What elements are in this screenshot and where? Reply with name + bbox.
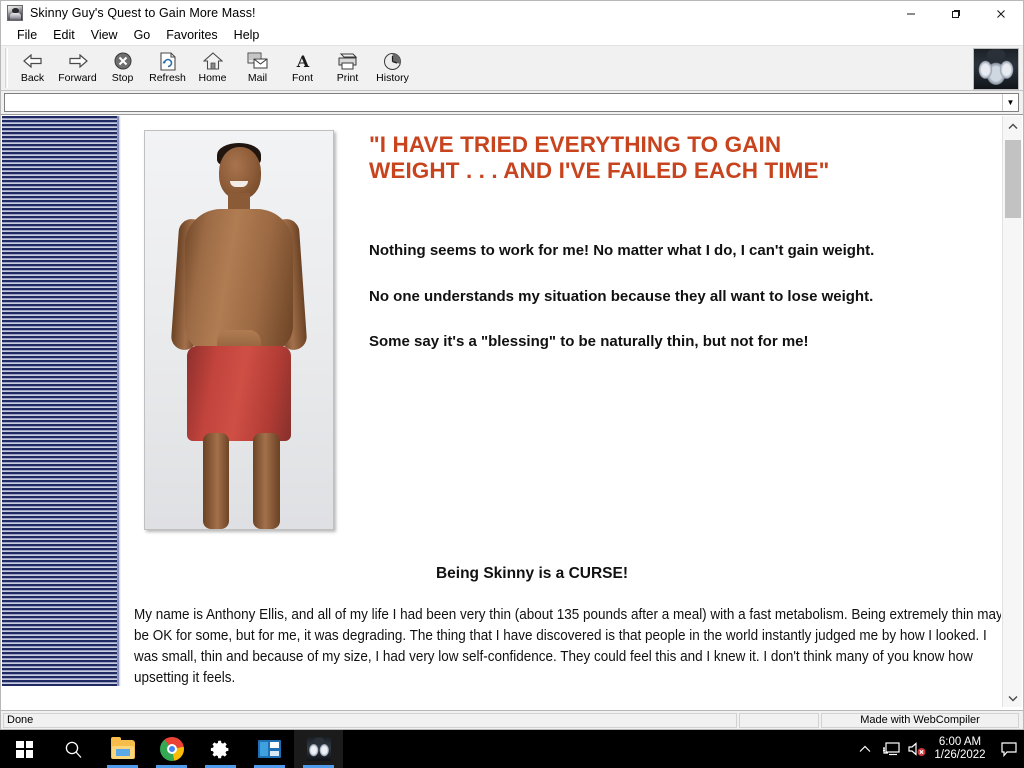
maximize-button[interactable] (933, 1, 978, 26)
app-photo-icon (307, 737, 331, 761)
close-button[interactable] (978, 1, 1023, 26)
toolbar-forward-button[interactable]: Forward (55, 48, 100, 90)
page-sidebar-stripes (2, 116, 118, 686)
toolbar-font-label: Font (292, 73, 313, 84)
clock[interactable]: 6:00 AM 1/26/2022 (930, 736, 994, 762)
network-monitor-icon[interactable] (878, 730, 904, 768)
toolbar-stop-label: Stop (112, 73, 134, 84)
window-controls (888, 1, 1023, 26)
office-icon (258, 740, 281, 758)
sidebar-edge (118, 116, 121, 686)
toolbar-print-button[interactable]: Print (325, 48, 370, 90)
toolbar-refresh-button[interactable]: Refresh (145, 48, 190, 90)
scrollbar-thumb[interactable] (1005, 140, 1021, 218)
svg-text:A: A (295, 52, 309, 70)
speaker-muted-icon[interactable] (904, 730, 930, 768)
arrow-right-icon (67, 50, 89, 72)
page-paragraph-1: Nothing seems to work for me! No matter … (369, 241, 874, 262)
toolbar-history-button[interactable]: History (370, 48, 415, 90)
home-icon (202, 50, 224, 72)
chrome-button[interactable] (147, 730, 196, 768)
chrome-icon (160, 737, 184, 761)
status-bar: Done Made with WebCompiler (1, 710, 1023, 729)
toolbar-print-label: Print (337, 73, 359, 84)
refresh-page-icon (157, 50, 179, 72)
clock-date: 1/26/2022 (932, 749, 988, 762)
toolbar-mail-button[interactable]: Mail (235, 48, 280, 90)
toolbar-stop-button[interactable]: Stop (100, 48, 145, 90)
menu-item-go[interactable]: Go (126, 26, 159, 45)
taskbar: 6:00 AM 1/26/2022 (0, 730, 1024, 768)
toolbar-font-button[interactable]: A Font (280, 48, 325, 90)
status-credit: Made with WebCompiler (821, 713, 1019, 728)
search-button[interactable] (49, 730, 98, 768)
arrow-left-icon (22, 50, 44, 72)
toolbar-history-label: History (376, 73, 409, 84)
chevron-down-icon[interactable]: ▼ (1002, 94, 1018, 111)
toolbar-forward-label: Forward (58, 73, 97, 84)
minimize-button[interactable] (888, 1, 933, 26)
start-button[interactable] (0, 730, 49, 768)
font-a-icon: A (292, 50, 314, 72)
menu-item-edit[interactable]: Edit (45, 26, 83, 45)
address-input[interactable] (5, 94, 1002, 111)
chevron-up-icon[interactable] (852, 730, 878, 768)
toolbar-refresh-label: Refresh (149, 73, 186, 84)
menu-bar: File Edit View Go Favorites Help (1, 26, 1023, 45)
address-combo[interactable]: ▼ (4, 93, 1019, 112)
muscular-torso-logo-icon (974, 49, 1018, 89)
menu-item-view[interactable]: View (83, 26, 126, 45)
thin-man-photo (144, 130, 334, 530)
menu-item-help[interactable]: Help (226, 26, 268, 45)
office-app-button[interactable] (245, 730, 294, 768)
hero-text: "I HAVE TRIED EVERYTHING TO GAIN WEIGHT … (369, 130, 886, 353)
scroll-down-icon[interactable] (1003, 688, 1023, 707)
toolbar-grip[interactable] (5, 48, 8, 88)
page-content: "I HAVE TRIED EVERYTHING TO GAIN WEIGHT … (123, 116, 1001, 707)
browser-window: Skinny Guy's Quest to Gain More Mass! (0, 0, 1024, 730)
toolbar-back-label: Back (21, 73, 44, 84)
notification-icon[interactable] (994, 730, 1024, 768)
page-subheading: Being Skinny is a CURSE! (123, 565, 1001, 583)
hero-section: "I HAVE TRIED EVERYTHING TO GAIN WEIGHT … (123, 116, 1001, 530)
toolbar-home-label: Home (198, 73, 226, 84)
page-headline: "I HAVE TRIED EVERYTHING TO GAIN WEIGHT … (369, 132, 869, 184)
toolbar-logo (973, 48, 1019, 90)
page-paragraph-3: Some say it's a "blessing" to be natural… (369, 332, 874, 353)
screen: Skinny Guy's Quest to Gain More Mass! (0, 0, 1024, 768)
status-middle (739, 713, 819, 728)
history-clock-icon (382, 50, 404, 72)
app-photo-icon (7, 5, 23, 21)
folder-icon (111, 740, 135, 759)
page-paragraph-2: No one understands my situation because … (369, 287, 874, 308)
toolbar-back-button[interactable]: Back (10, 48, 55, 90)
windows-logo-icon (16, 741, 33, 758)
menu-item-favorites[interactable]: Favorites (158, 26, 225, 45)
toolbar-mail-label: Mail (248, 73, 267, 84)
status-message: Done (3, 713, 737, 728)
window-title: Skinny Guy's Quest to Gain More Mass! (30, 6, 256, 20)
page-story-text: My name is Anthony Ellis, and all of my … (134, 605, 1001, 689)
gear-icon (210, 739, 231, 760)
printer-icon (337, 50, 359, 72)
stop-x-icon (112, 50, 134, 72)
skinny-guy-app-button[interactable] (294, 730, 343, 768)
menu-item-file[interactable]: File (9, 26, 45, 45)
page-scrollbar[interactable] (1002, 116, 1022, 707)
toolbar: Back Forward Stop (1, 45, 1023, 91)
settings-button[interactable] (196, 730, 245, 768)
title-bar[interactable]: Skinny Guy's Quest to Gain More Mass! (1, 1, 1023, 26)
system-tray: 6:00 AM 1/26/2022 (852, 730, 1024, 768)
scroll-up-icon[interactable] (1003, 116, 1023, 136)
page-viewport: "I HAVE TRIED EVERYTHING TO GAIN WEIGHT … (1, 115, 1023, 707)
toolbar-home-button[interactable]: Home (190, 48, 235, 90)
file-explorer-button[interactable] (98, 730, 147, 768)
clock-time: 6:00 AM (932, 736, 988, 749)
address-bar: ▼ (1, 91, 1023, 115)
search-icon (64, 740, 83, 759)
mail-icon (247, 50, 269, 72)
